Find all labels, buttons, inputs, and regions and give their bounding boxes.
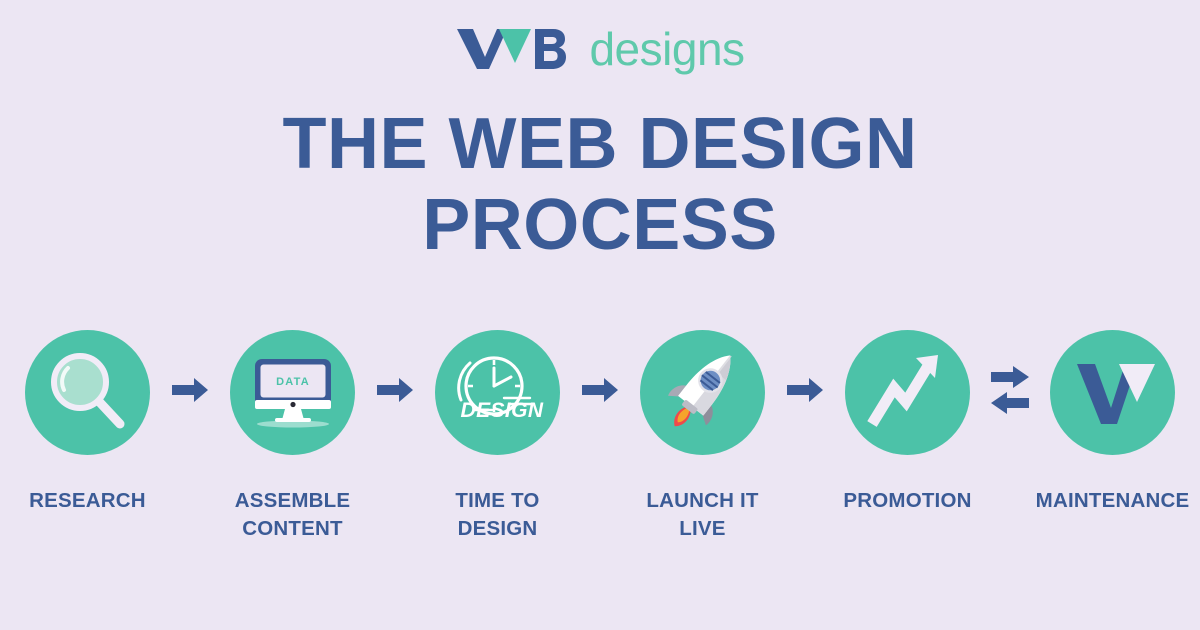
step-icon-circle (640, 330, 765, 455)
step-promotion: PROMOTION (833, 330, 983, 515)
step-icon-circle (1050, 330, 1175, 455)
step-assemble-content: DATA ASSEMBLE CONTENT (218, 330, 368, 542)
rocket-icon (651, 338, 755, 447)
step-icon-circle: DATA (230, 330, 355, 455)
arrow-right-icon (375, 376, 415, 409)
step-research: RESEARCH (13, 330, 163, 515)
step-label-research: RESEARCH (29, 487, 146, 515)
step-time-to-design: DESIGN TIME TO DESIGN (423, 330, 573, 542)
step-label-assemble-content: ASSEMBLE CONTENT (235, 487, 351, 542)
clock-overlay-text: DESIGN (460, 399, 543, 422)
clock-speed-icon: DESIGN (446, 338, 550, 447)
monitor-screen-text: DATA (276, 376, 310, 388)
arrow-exchange-icon (989, 366, 1031, 419)
connector-4 (778, 330, 833, 455)
step-label-time-to-design: TIME TO DESIGN (455, 487, 539, 542)
growth-arrow-icon (856, 338, 960, 447)
arrow-right-icon (580, 376, 620, 409)
page-title-line-2: PROCESS (0, 185, 1200, 266)
step-launch-it-live: LAUNCH IT LIVE (628, 330, 778, 542)
page-title-line-1: THE WEB DESIGN (0, 104, 1200, 185)
infographic-page: designs THE WEB DESIGN PROCESS RESEARCH (0, 0, 1200, 630)
step-label-launch-it-live: LAUNCH IT LIVE (646, 487, 758, 542)
step-icon-circle (845, 330, 970, 455)
connector-5 (983, 330, 1038, 455)
desktop-monitor-icon: DATA (241, 338, 345, 447)
page-title: THE WEB DESIGN PROCESS (0, 104, 1200, 265)
wbc-w-triangle-logo-icon (455, 25, 575, 71)
step-maintenance: MAINTENANCE (1038, 330, 1188, 515)
brand-logo: designs (0, 20, 1200, 76)
connector-3 (573, 330, 628, 455)
step-icon-circle: DESIGN (435, 330, 560, 455)
arrow-right-icon (170, 376, 210, 409)
connector-1 (163, 330, 218, 455)
step-label-promotion: PROMOTION (843, 487, 971, 515)
step-icon-circle (25, 330, 150, 455)
brand-word: designs (589, 26, 744, 72)
magnifying-glass-icon (36, 338, 140, 447)
step-label-maintenance: MAINTENANCE (1036, 487, 1190, 515)
wbc-w-logo-icon (1061, 338, 1165, 447)
arrow-right-icon (785, 376, 825, 409)
connector-2 (368, 330, 423, 455)
process-steps: RESEARCH DATA (0, 330, 1200, 542)
